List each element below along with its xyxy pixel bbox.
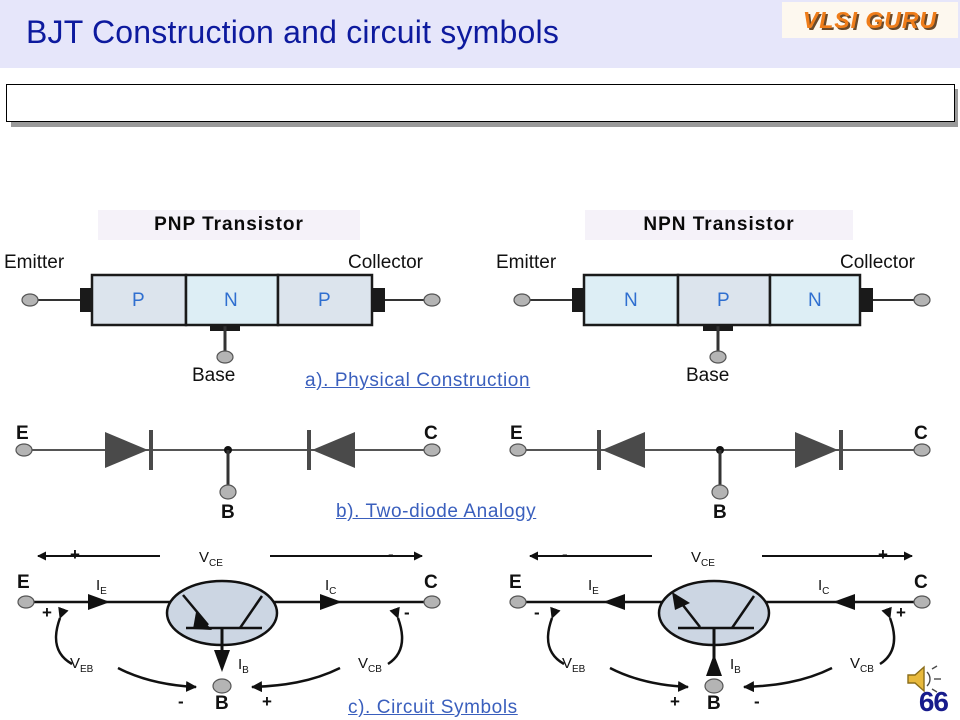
npn-sym-e-dot bbox=[510, 596, 526, 608]
pnp-diode-b-dot bbox=[220, 485, 236, 499]
pnp-sym-e-dot bbox=[18, 596, 34, 608]
caption-c: c). Circuit Symbols bbox=[348, 698, 518, 717]
pnp-sym-b-dot bbox=[213, 679, 231, 693]
slide: BJT Construction and circuit symbols VLS… bbox=[0, 0, 960, 720]
pnp-region-label-3: P bbox=[318, 291, 331, 310]
caption-b: b). Two-diode Analogy bbox=[336, 502, 536, 521]
npn-vcb-main: V bbox=[850, 655, 860, 672]
npn-diode-e-label: E bbox=[510, 424, 523, 443]
npn-vcb-sub: CB bbox=[860, 664, 874, 675]
npn-ie-arrow bbox=[603, 594, 625, 610]
pnp-diode-c-label: C bbox=[424, 424, 438, 443]
pnp-diode-right bbox=[312, 432, 355, 468]
pnp-ib-label: IB bbox=[238, 657, 249, 676]
npn-diode-e-dot bbox=[510, 444, 526, 456]
pnp-ie-sub: E bbox=[100, 586, 107, 597]
pnp-physical-construction bbox=[22, 275, 440, 363]
npn-collector-label: Collector bbox=[840, 253, 915, 272]
pnp-veb-sub: EB bbox=[80, 664, 93, 675]
npn-veb-sub: EB bbox=[572, 664, 585, 675]
npn-diode-left bbox=[602, 432, 645, 468]
npn-two-diode-analogy bbox=[510, 430, 930, 499]
pnp-veb-main: V bbox=[70, 655, 80, 672]
pnp-vcb-main: V bbox=[358, 655, 368, 672]
pnp-ic-sub: C bbox=[329, 586, 336, 597]
pnp-sign-e: + bbox=[42, 604, 52, 621]
npn-sym-e-label: E bbox=[509, 573, 522, 592]
pnp-vce-sign-right: - bbox=[388, 546, 394, 563]
npn-sign-c: + bbox=[896, 604, 906, 621]
pnp-vcb-sub: CB bbox=[368, 664, 382, 675]
npn-ib-arrow bbox=[706, 654, 722, 676]
pnp-sym-c-label: C bbox=[424, 573, 438, 592]
npn-sym-c-label: C bbox=[914, 573, 928, 592]
pnp-collector-label: Collector bbox=[348, 253, 423, 272]
npn-physical-construction bbox=[514, 275, 930, 363]
pnp-vcb-label: VCB bbox=[358, 656, 382, 675]
npn-ic-label: IC bbox=[818, 578, 829, 597]
pnp-ic-label: IC bbox=[325, 578, 336, 597]
bjt-diagram-canvas bbox=[0, 0, 960, 720]
npn-sym-b-dot bbox=[705, 679, 723, 693]
pnp-ib-sub: B bbox=[242, 665, 249, 676]
npn-vce-sign-right: + bbox=[878, 546, 888, 563]
npn-ib-sub: B bbox=[734, 665, 741, 676]
pnp-sign-b-left: - bbox=[178, 693, 184, 710]
npn-region-label-3: N bbox=[808, 291, 822, 310]
npn-diode-c-label: C bbox=[914, 424, 928, 443]
npn-diode-c-dot bbox=[914, 444, 930, 456]
npn-emitter-terminal-dot bbox=[514, 294, 530, 306]
npn-vce-sign-left: - bbox=[562, 546, 568, 563]
pnp-sym-e-label: E bbox=[17, 573, 30, 592]
pnp-vce-sign-left: + bbox=[70, 546, 80, 563]
pnp-base-label: Base bbox=[192, 366, 235, 385]
pnp-veb-label: VEB bbox=[70, 656, 93, 675]
npn-collector-terminal-dot bbox=[914, 294, 930, 306]
pnp-region-label-1: P bbox=[132, 291, 145, 310]
pnp-diode-e-dot bbox=[16, 444, 32, 456]
pnp-diode-c-dot bbox=[424, 444, 440, 456]
npn-emitter-label: Emitter bbox=[496, 253, 556, 272]
npn-region-label-2: P bbox=[717, 291, 730, 310]
caption-a: a). Physical Construction bbox=[305, 371, 530, 390]
npn-vce-sub: CE bbox=[701, 558, 715, 569]
pnp-vce-main: V bbox=[199, 549, 209, 566]
pnp-ib-arrow bbox=[214, 650, 230, 672]
pnp-emitter-label: Emitter bbox=[4, 253, 64, 272]
pnp-diode-e-label: E bbox=[16, 424, 29, 443]
npn-base-terminal-dot bbox=[710, 351, 726, 363]
pnp-vce-sub: CE bbox=[209, 558, 223, 569]
pnp-two-diode-analogy bbox=[16, 430, 440, 499]
pnp-base-terminal-dot bbox=[217, 351, 233, 363]
pnp-emitter-terminal-dot bbox=[22, 294, 38, 306]
pnp-ie-label: IE bbox=[96, 578, 107, 597]
pnp-sym-c-dot bbox=[424, 596, 440, 608]
npn-sym-b-label: B bbox=[707, 694, 721, 713]
npn-base-label: Base bbox=[686, 366, 729, 385]
npn-vcb-label: VCB bbox=[850, 656, 874, 675]
npn-ie-label: IE bbox=[588, 578, 599, 597]
npn-diode-b-dot bbox=[712, 485, 728, 499]
npn-veb-main: V bbox=[562, 655, 572, 672]
npn-region-label-1: N bbox=[624, 291, 638, 310]
pnp-sign-b-right: + bbox=[262, 693, 272, 710]
npn-ie-sub: E bbox=[592, 586, 599, 597]
npn-sign-e: - bbox=[534, 604, 540, 621]
pnp-region-label-2: N bbox=[224, 291, 238, 310]
pnp-vce-label: VCE bbox=[199, 550, 223, 569]
npn-veb-label: VEB bbox=[562, 656, 585, 675]
npn-vce-main: V bbox=[691, 549, 701, 566]
page-number: 66 bbox=[919, 686, 948, 718]
npn-sign-b-right: - bbox=[754, 693, 760, 710]
pnp-sign-c: - bbox=[404, 604, 410, 621]
npn-diode-b-label: B bbox=[713, 503, 727, 522]
npn-sign-b-left: + bbox=[670, 693, 680, 710]
npn-ib-label: IB bbox=[730, 657, 741, 676]
npn-vce-label: VCE bbox=[691, 550, 715, 569]
npn-diode-right bbox=[795, 432, 838, 468]
npn-sym-c-dot bbox=[914, 596, 930, 608]
pnp-diode-left bbox=[105, 432, 148, 468]
pnp-collector-terminal-dot bbox=[424, 294, 440, 306]
npn-ic-arrow bbox=[833, 594, 855, 610]
pnp-sym-b-label: B bbox=[215, 694, 229, 713]
npn-ic-sub: C bbox=[822, 586, 829, 597]
pnp-diode-b-label: B bbox=[221, 503, 235, 522]
